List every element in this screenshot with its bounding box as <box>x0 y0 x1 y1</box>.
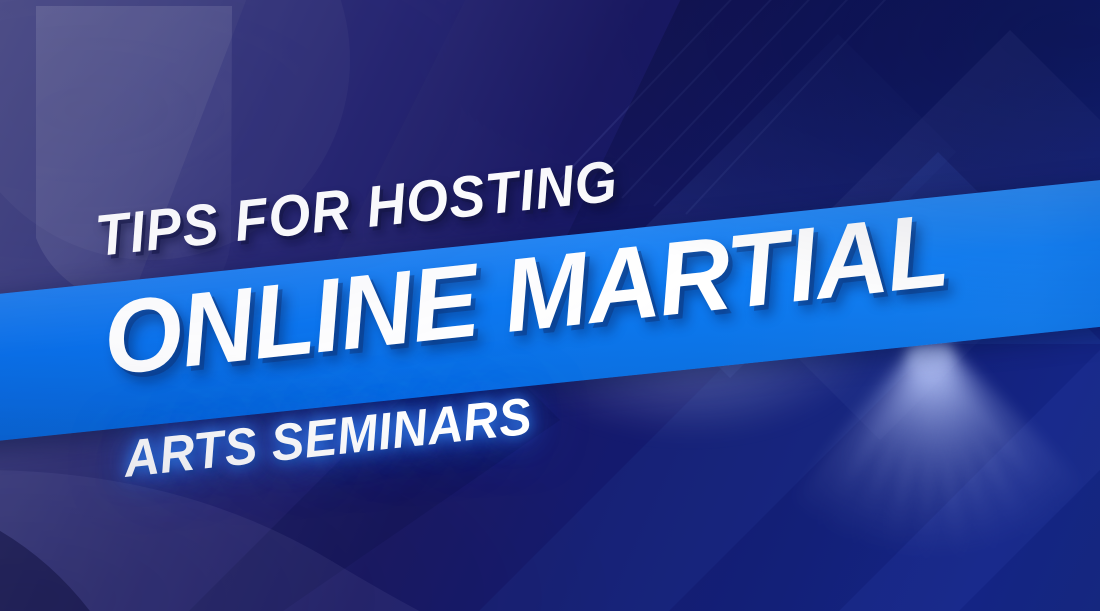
title-card-canvas: TIPS FOR HOSTING ONLINE MARTIAL ARTS SEM… <box>0 0 1100 611</box>
vignette-overlay <box>0 0 1100 611</box>
